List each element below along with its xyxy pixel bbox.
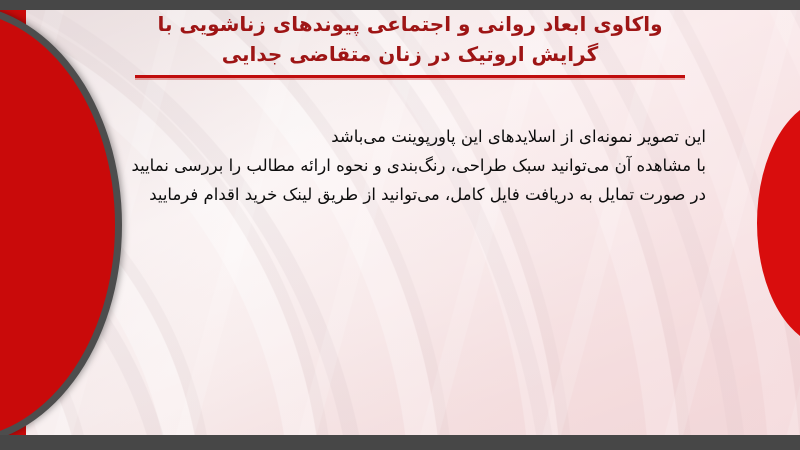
slide-title: واکاوی ابعاد روانی و اجتماعی پیوندهای زن… xyxy=(120,9,700,69)
slide-title-line-2: گرایش اروتیک در زنان متقاضی جدایی xyxy=(120,39,700,69)
bottom-frame-bar xyxy=(0,435,800,450)
body-line-1: این تصویر نمونه‌ای از اسلایدهای این پاور… xyxy=(86,122,706,151)
presentation-slide: واکاوی ابعاد روانی و اجتماعی پیوندهای زن… xyxy=(0,0,800,450)
body-line-2: با مشاهده آن می‌توانید سبک طراحی، رنگ‌بن… xyxy=(86,151,706,180)
body-line-3: در صورت تمایل به دریافت فایل کامل، می‌تو… xyxy=(86,180,706,209)
slide-body-text: این تصویر نمونه‌ای از اسلایدهای این پاور… xyxy=(86,122,706,209)
title-underline-rule xyxy=(135,75,685,78)
top-frame-bar xyxy=(0,0,800,10)
slide-title-line-1: واکاوی ابعاد روانی و اجتماعی پیوندهای زن… xyxy=(120,9,700,39)
